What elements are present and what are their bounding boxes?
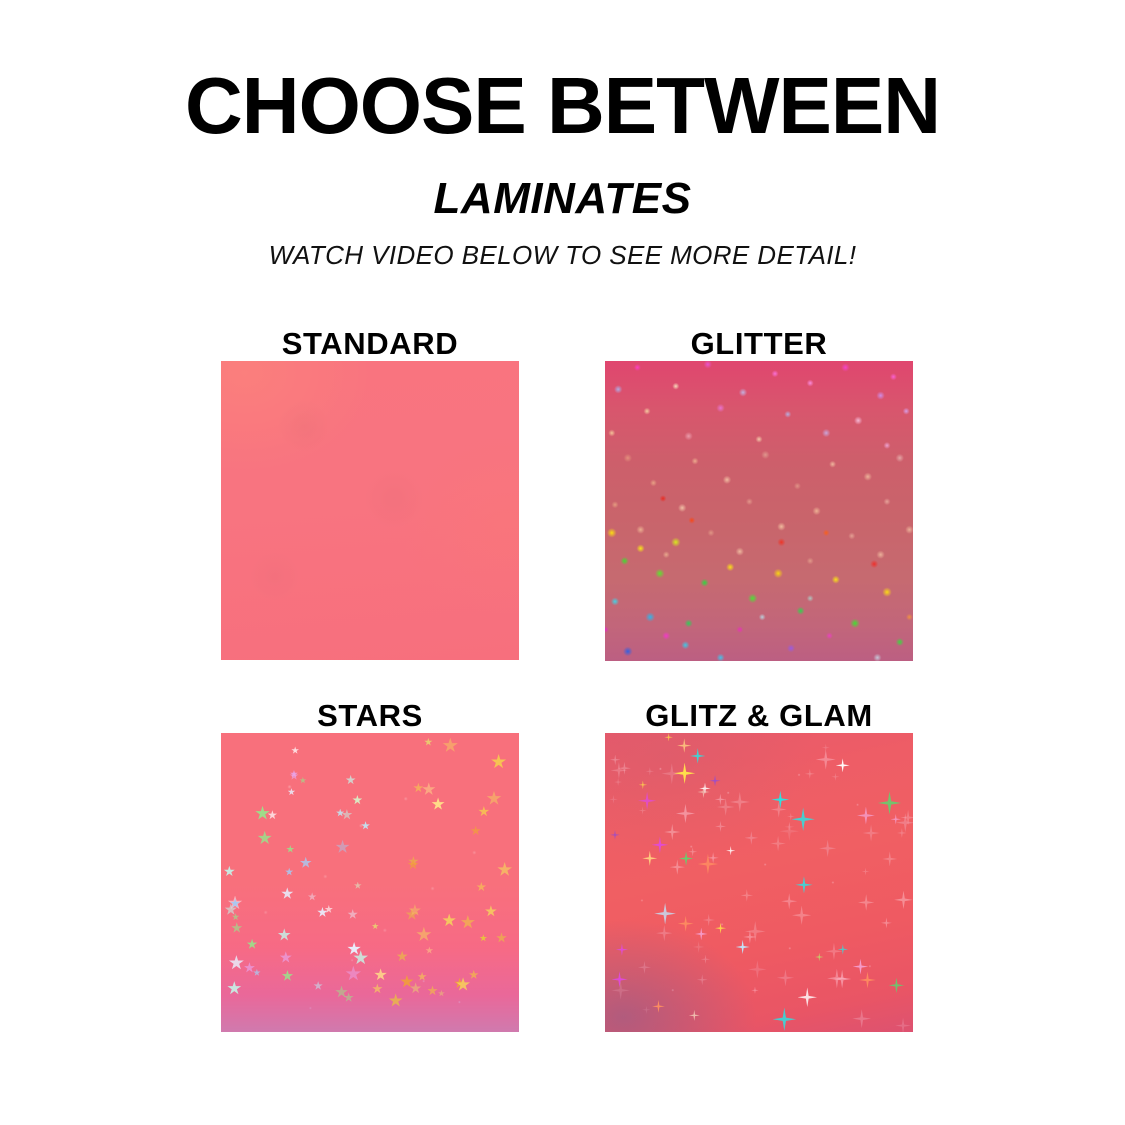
page-title: CHOOSE BETWEEN [0, 66, 1125, 146]
page-subtitle: LAMINATES [0, 177, 1125, 221]
swatch-card-stars[interactable]: STARS [221, 700, 519, 1032]
swatch-card-standard[interactable]: STANDARD [221, 328, 519, 660]
swatch-label-glitz-glam: GLITZ & GLAM [605, 700, 913, 731]
page-tagline: WATCH VIDEO BELOW TO SEE MORE DETAIL! [0, 242, 1125, 268]
glitter-dots-layer-1 [605, 361, 913, 661]
sparkle-haze-layer [605, 733, 913, 1032]
swatch-sample-standard[interactable] [221, 361, 519, 660]
glitter-dots-layer-4 [605, 361, 913, 661]
poster-canvas: CHOOSE BETWEEN LAMINATES WATCH VIDEO BEL… [0, 0, 1125, 1125]
swatch-card-glitter[interactable]: GLITTER [605, 328, 913, 661]
glitter-dots-layer-3 [605, 361, 913, 661]
swatch-label-standard: STANDARD [221, 328, 519, 359]
swatch-label-glitter: GLITTER [605, 328, 913, 359]
swatch-label-stars: STARS [221, 700, 519, 731]
swatch-card-glitz-glam[interactable]: GLITZ & GLAM [605, 700, 913, 1032]
star-haze-layer [221, 733, 519, 1032]
swatch-sample-glitz-glam[interactable] [605, 733, 913, 1032]
swatch-sample-stars[interactable] [221, 733, 519, 1032]
swatch-sample-glitter[interactable] [605, 361, 913, 661]
glitter-dots-layer-2 [605, 361, 913, 661]
